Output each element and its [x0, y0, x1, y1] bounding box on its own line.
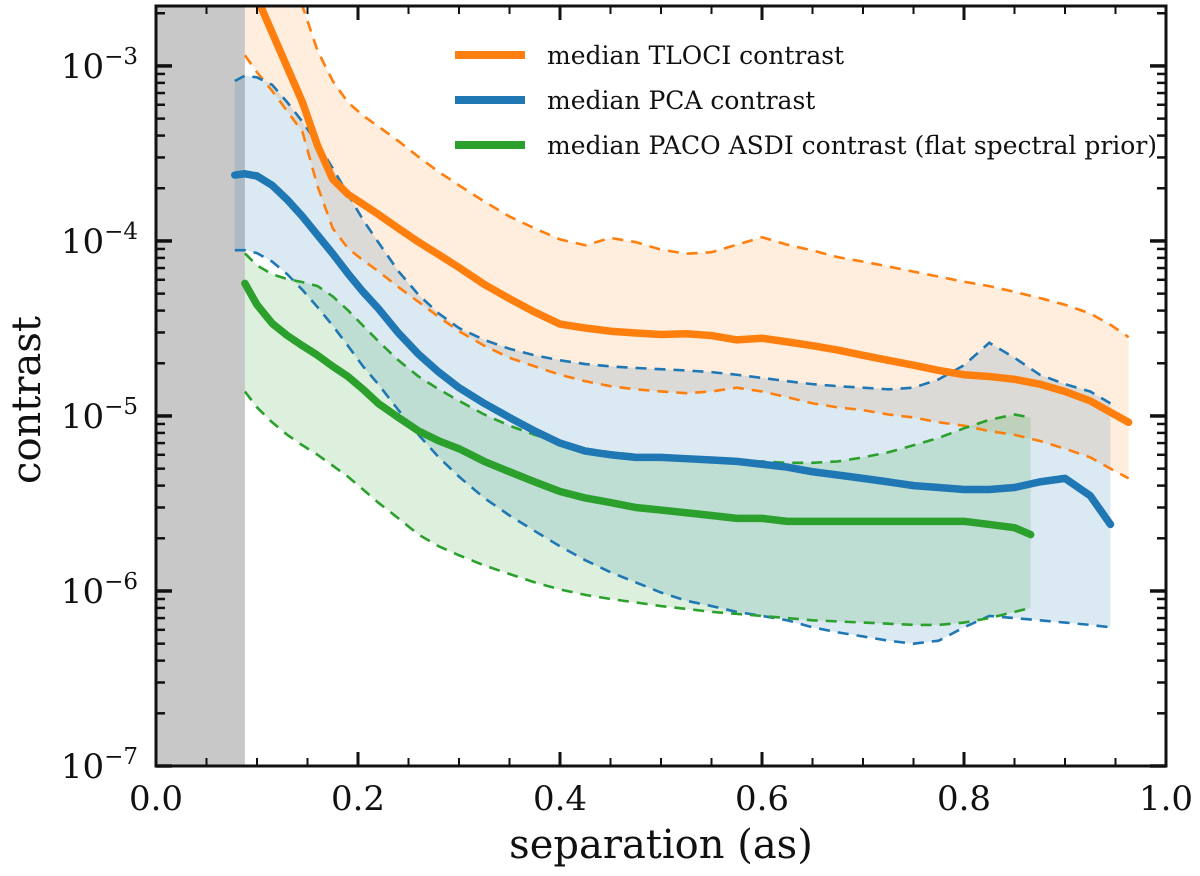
x-tick-label: 0.0 — [129, 779, 183, 819]
x-axis-label: separation (as) — [509, 822, 813, 868]
x-tick-label: 1.0 — [1139, 779, 1193, 819]
mask-rect — [156, 6, 245, 766]
legend-label-2: median PACO ASDI contrast (flat spectral… — [547, 131, 1157, 160]
inner-working-angle-mask — [156, 6, 245, 766]
contrast-curve-figure: 0.00.20.40.60.81.0 10−310−410−510−610−7 … — [0, 0, 1200, 876]
x-tick-label: 0.4 — [533, 779, 587, 819]
x-tick-label: 0.6 — [735, 779, 789, 819]
legend-label-0: median TLOCI contrast — [547, 41, 844, 70]
legend-label-1: median PCA contrast — [547, 86, 815, 115]
x-tick-label: 0.8 — [937, 779, 991, 819]
y-axis-label: contrast — [4, 316, 50, 484]
x-tick-label: 0.2 — [331, 779, 385, 819]
contrast-plot: 0.00.20.40.60.81.0 10−310−410−510−610−7 … — [0, 0, 1200, 876]
